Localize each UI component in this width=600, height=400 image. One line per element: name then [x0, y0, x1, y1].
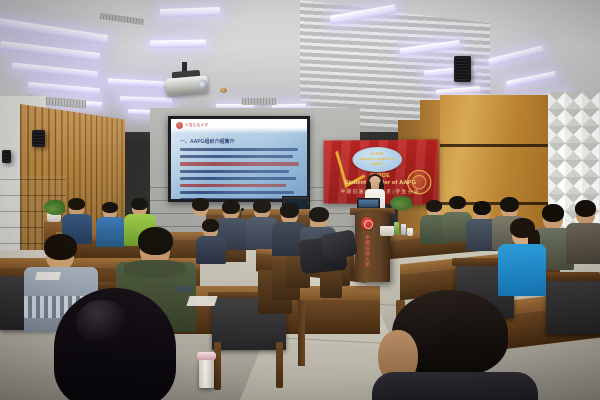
person-hair	[426, 200, 442, 212]
slide-logo-text: 中国石油大学	[185, 122, 208, 127]
thermos-cup	[199, 358, 214, 388]
ceiling-air-vent	[242, 98, 276, 105]
podium-name-plate: 中 国 石 油 大 学	[360, 236, 375, 276]
person-hair	[473, 201, 491, 215]
water-bottle	[394, 222, 399, 235]
chair-frame	[542, 272, 600, 281]
person-hair	[222, 200, 240, 214]
chair	[546, 276, 600, 334]
person-torso	[372, 372, 538, 400]
banner-oval-line2: Student Chapter of	[353, 157, 402, 161]
banner-oval-line1: CUPOE	[353, 152, 402, 156]
person-hair	[253, 199, 271, 213]
chair-leg	[276, 342, 283, 388]
person-hair-sheen	[76, 300, 128, 344]
podium-char: 学	[365, 263, 369, 267]
wall-speaker-right	[454, 56, 471, 82]
audience-person	[566, 204, 600, 264]
smoke-detector-icon	[220, 88, 227, 93]
wall-speaker-left	[32, 130, 45, 147]
audience-person-blue-jacket	[498, 222, 546, 296]
paper-sheet	[35, 272, 61, 280]
person-hair	[449, 196, 466, 209]
slide-body-text	[180, 148, 300, 199]
person-hair	[131, 198, 148, 210]
chair-leg	[214, 342, 221, 390]
person-torso	[196, 236, 226, 264]
ceiling-light-panel	[150, 40, 206, 49]
slide-title: 一、AAPG组织介绍简介	[180, 138, 234, 145]
foreground-person-long-hair	[40, 288, 190, 400]
table-leg	[298, 300, 305, 366]
banner-seal-icon	[407, 170, 431, 194]
person-hair	[500, 197, 519, 212]
projection-screen: 中国石油大学 一、AAPG组织介绍简介	[168, 116, 310, 202]
university-crest-icon	[361, 217, 374, 230]
conference-room-photo: 中国石油大学 一、AAPG组织介绍简介 CUPOE Student Chapte…	[0, 0, 600, 400]
presentation-slide: 中国石油大学 一、AAPG组织介绍简介	[171, 119, 307, 199]
paper-sheet	[186, 296, 217, 306]
paper-cup	[407, 228, 413, 236]
person-hair	[280, 203, 299, 218]
banner-oval-line3: AAPG	[353, 162, 402, 166]
person-torso	[566, 223, 600, 264]
water-bottle	[401, 224, 406, 235]
person-hair	[138, 227, 173, 255]
speaker-podium: 中 国 石 油 大 学	[355, 212, 390, 282]
podium-char: 油	[365, 252, 369, 256]
tissue-box	[380, 226, 394, 236]
university-logo-icon	[176, 122, 183, 129]
person-hair	[192, 198, 209, 211]
banner-oval-logo: CUPOE Student Chapter of AAPG	[353, 147, 402, 172]
audience-person	[196, 222, 226, 264]
person-hair	[309, 207, 329, 222]
person-hair	[44, 234, 77, 260]
phone-device	[177, 286, 193, 292]
person-hair	[68, 198, 85, 210]
wall-speaker-far-left	[2, 150, 11, 163]
person-hair	[202, 219, 219, 232]
person-hair	[575, 200, 596, 217]
foreground-person-right	[372, 290, 538, 400]
person-hair	[102, 202, 118, 213]
person-torso	[498, 244, 546, 296]
parka-hood	[124, 260, 186, 278]
person-hair	[542, 204, 564, 222]
thermos-lid	[197, 352, 216, 360]
